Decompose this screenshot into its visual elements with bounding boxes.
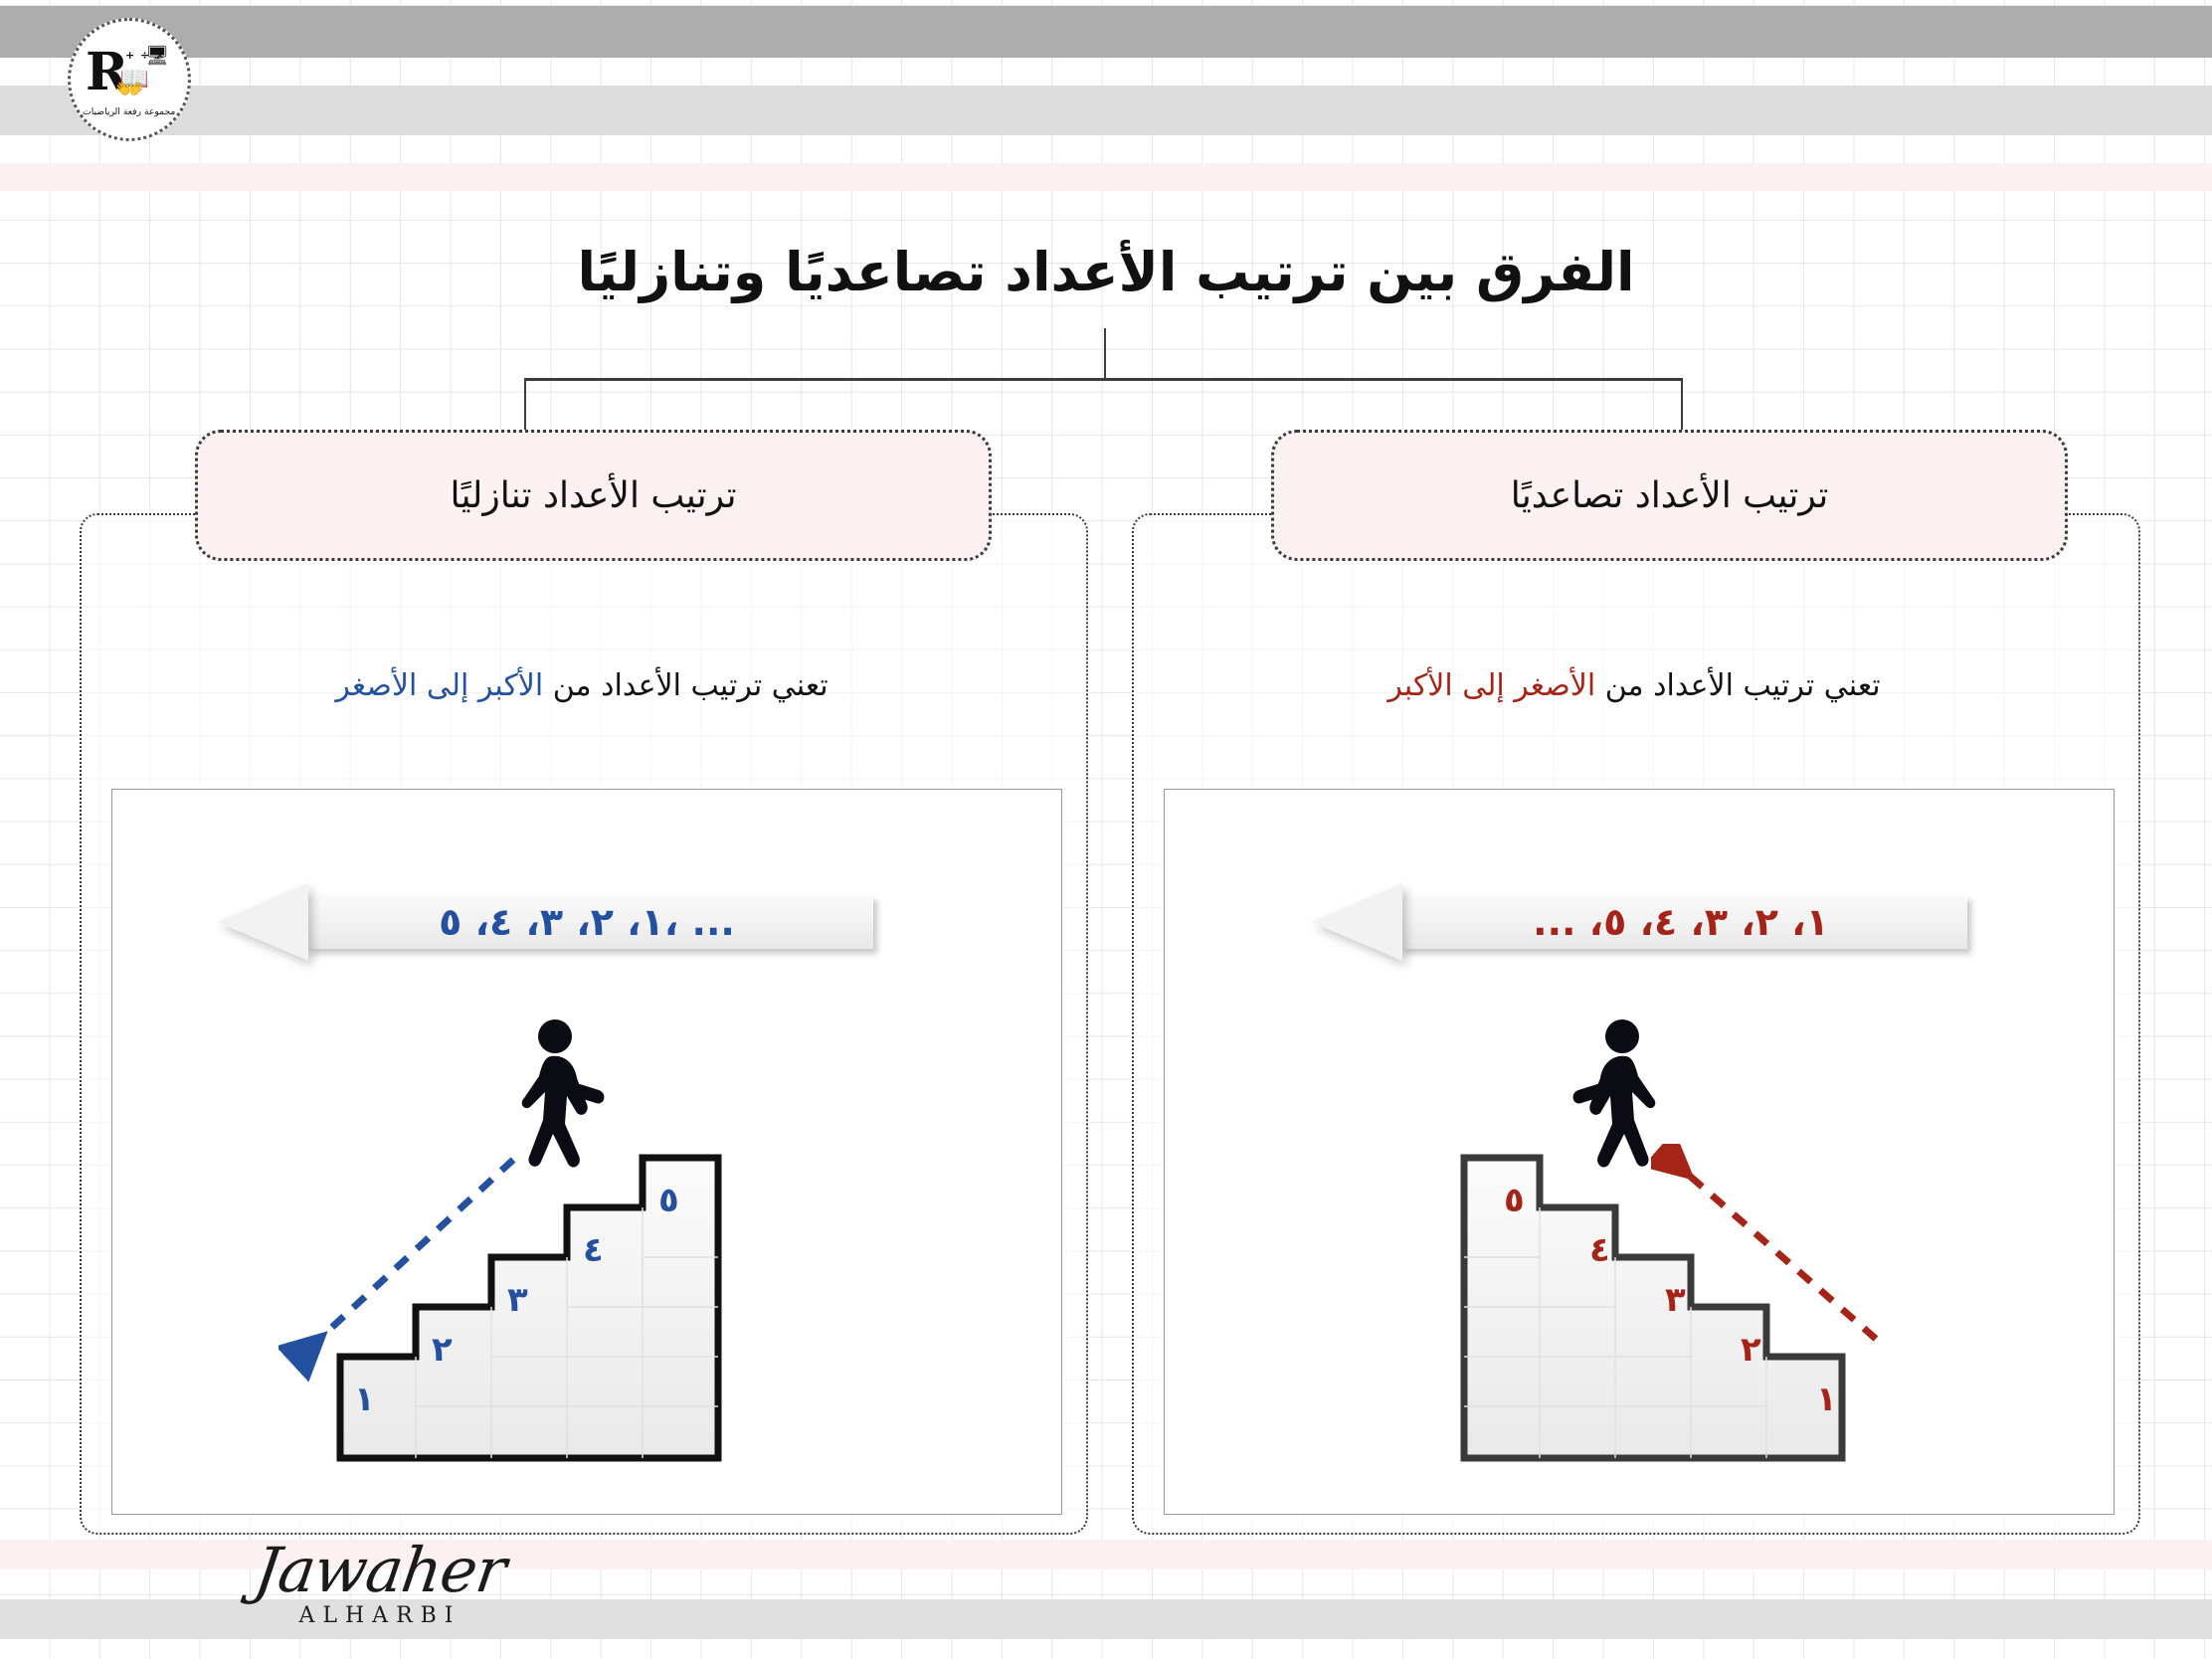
direction-arrow-ascending-icon (1651, 1144, 1900, 1382)
top-pink-band (0, 163, 2212, 191)
logo-arabic-text: مجموعة رفعة الرياضيات (83, 106, 175, 116)
monitor-icon: 🖥 (145, 47, 169, 66)
brand-logo: R + ÷ × 🖥 📖 👐 مجموعة رفعة الرياضيات (68, 18, 191, 141)
slide-canvas: R + ÷ × 🖥 📖 👐 مجموعة رفعة الرياضيات الفر… (0, 0, 2212, 1659)
signature-name: Jawaher (237, 1540, 524, 1601)
definition-ascending-prefix: تعني ترتيب الأعداد من (1595, 668, 1880, 703)
sequence-arrow-ascending-head (1311, 883, 1402, 961)
bracket-drop-left (524, 378, 526, 433)
top-light-band (0, 86, 2212, 135)
sequence-descending-numbers: ١، ٢، ٣، ٤، ٥، ... (308, 895, 865, 949)
heading-descending-label: ترتيب الأعداد تنازليًا (451, 475, 737, 516)
bracket-horizontal (524, 378, 1683, 381)
definition-descending-prefix: تعني ترتيب الأعداد من (543, 668, 828, 703)
sequence-arrow-descending-head (217, 883, 308, 961)
signature-family: ALHARBI (241, 1603, 519, 1628)
bracket-drop-right (1681, 378, 1683, 433)
step-label-descending-4: ٤ (583, 1230, 604, 1270)
definition-descending: تعني ترتيب الأعداد من الأكبر إلى الأصغر (80, 668, 1084, 703)
author-signature: Jawaher ALHARBI (241, 1540, 519, 1655)
bracket-stem (1104, 328, 1106, 380)
step-label-descending-5: ٥ (658, 1181, 679, 1220)
top-dark-band (0, 6, 2212, 58)
step-label-ascending-1: ١ (1816, 1380, 1837, 1419)
logo-mark: R + ÷ × 🖥 📖 👐 (80, 43, 179, 112)
sequence-arrow-descending: ١، ٢، ٣، ٤، ٥، ... (217, 883, 873, 961)
walking-person-descending-icon (521, 1016, 621, 1196)
sequence-arrow-ascending: ١، ٢، ٣، ٤، ٥، ... (1311, 883, 1967, 961)
definition-ascending: تعني ترتيب الأعداد من الأصغر إلى الأكبر (1132, 668, 2136, 703)
page-title: الفرق بين ترتيب الأعداد تصاعديًا وتنازلي… (0, 241, 2212, 305)
heading-descending: ترتيب الأعداد تنازليًا (195, 430, 992, 561)
heading-ascending: ترتيب الأعداد تصاعديًا (1271, 430, 2068, 561)
heading-ascending-label: ترتيب الأعداد تصاعديًا (1511, 475, 1829, 516)
hand-icon: 👐 (115, 79, 144, 101)
definition-descending-highlight: الأكبر إلى الأصغر (335, 668, 543, 703)
direction-arrow-descending-icon (278, 1144, 527, 1382)
step-label-ascending-4: ٤ (1589, 1230, 1610, 1270)
step-label-descending-1: ١ (354, 1380, 375, 1419)
sequence-ascending-numbers: ١، ٢، ٣، ٤، ٥، ... (1402, 895, 1959, 949)
definition-ascending-highlight: الأصغر إلى الأكبر (1387, 668, 1595, 703)
step-label-ascending-5: ٥ (1504, 1181, 1525, 1220)
walking-person-ascending-icon (1557, 1016, 1656, 1196)
